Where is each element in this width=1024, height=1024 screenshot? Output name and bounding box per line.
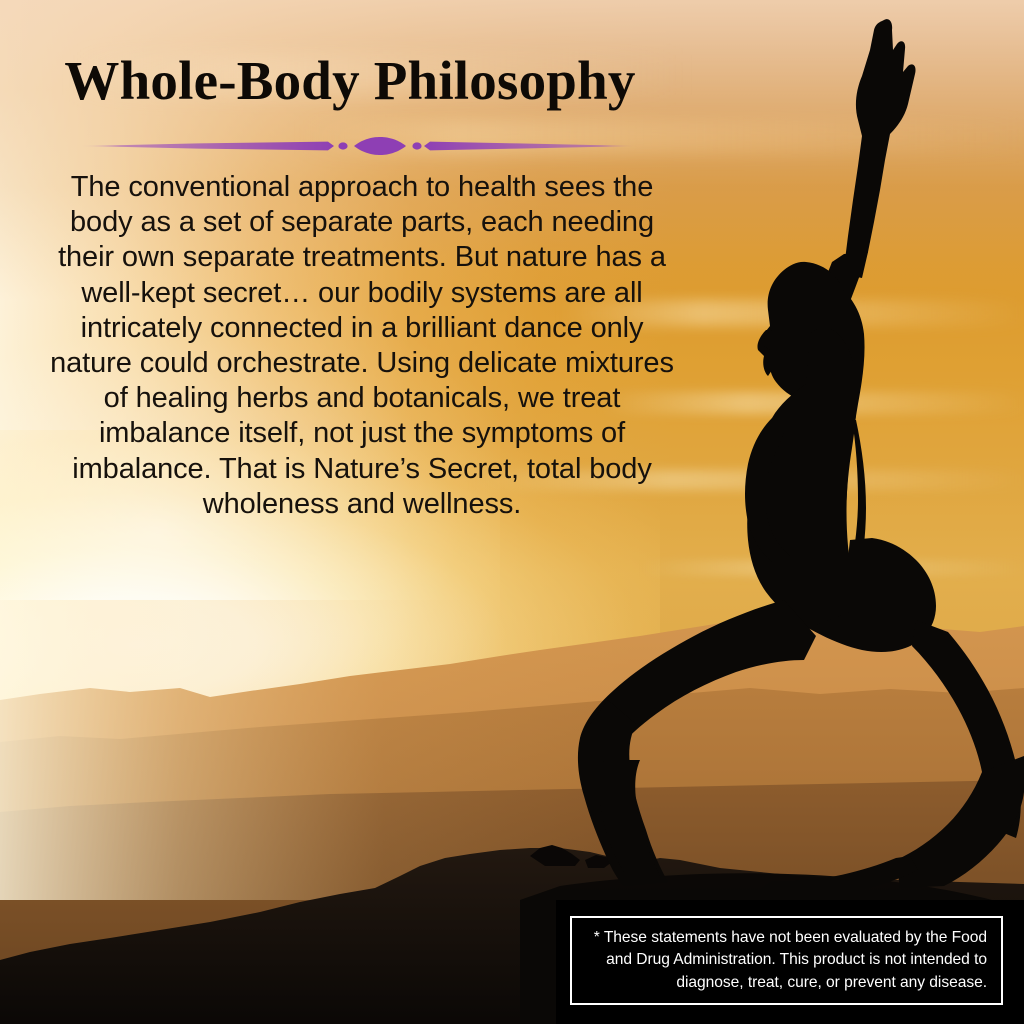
disclaimer-text: * These statements have not been evaluat… — [572, 927, 1001, 995]
poster-canvas: Whole-Body Philosophy — [0, 0, 1024, 1024]
disclaimer-box: * These statements have not been evaluat… — [570, 916, 1003, 1005]
ornamental-divider-icon — [78, 132, 638, 160]
body-paragraph: The conventional approach to health sees… — [42, 170, 682, 522]
page-title: Whole-Body Philosophy — [0, 52, 700, 110]
